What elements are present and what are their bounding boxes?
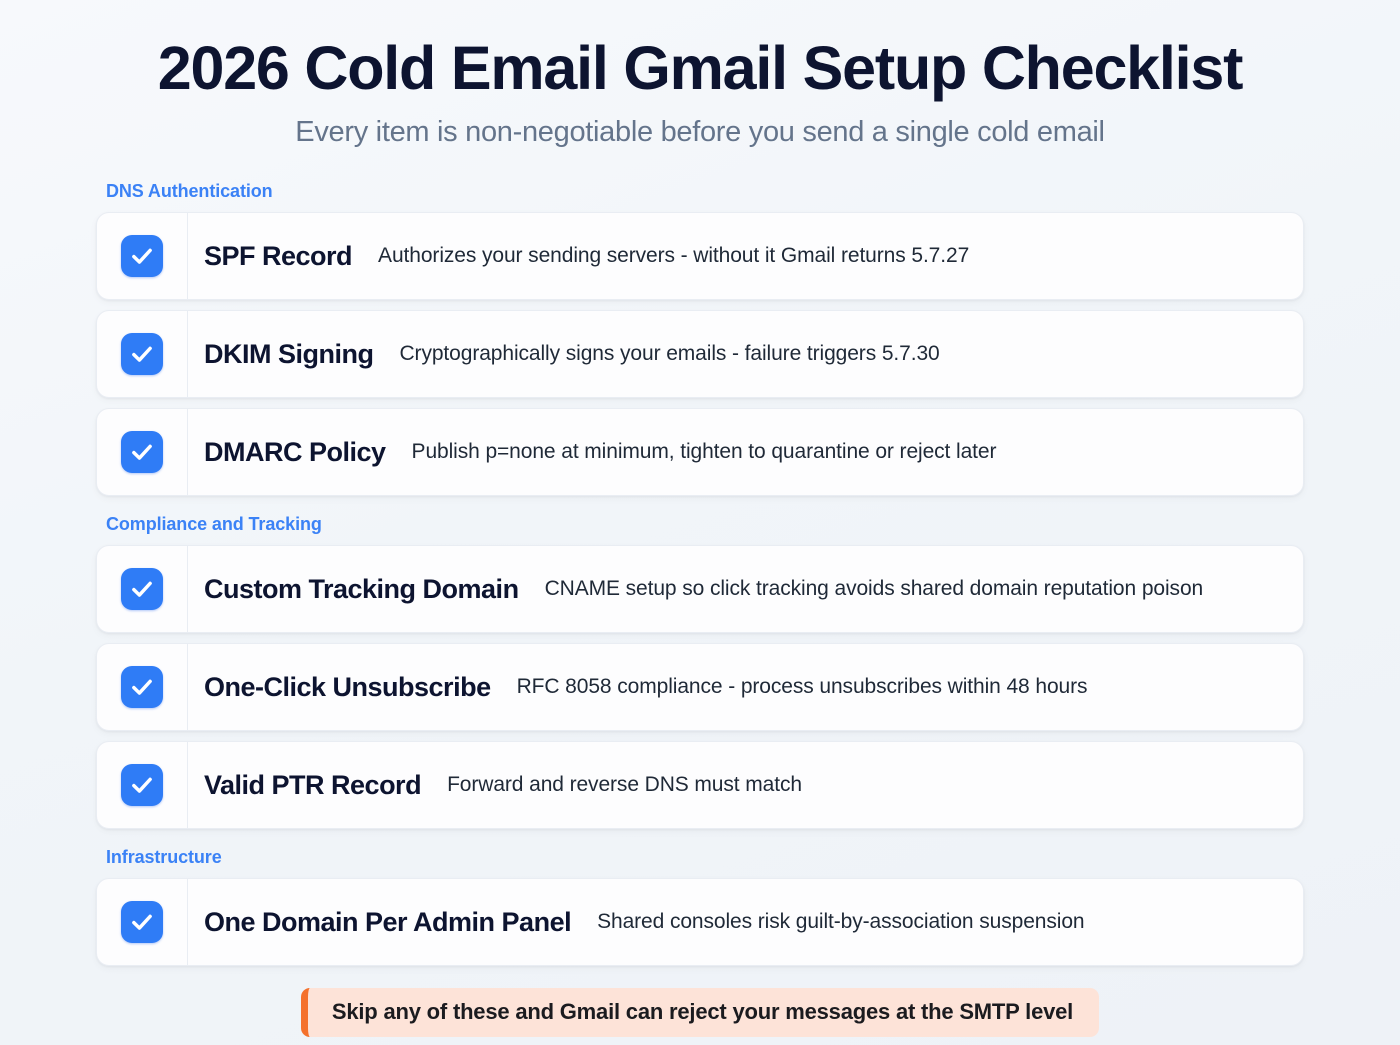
page-subtitle: Every item is non-negotiable before you …: [96, 116, 1304, 149]
checklist-item-body: One-Click UnsubscribeRFC 8058 compliance…: [188, 644, 1303, 730]
checklist-item-title: DMARC Policy: [204, 437, 386, 468]
section-card-list: SPF RecordAuthorizes your sending server…: [96, 212, 1304, 496]
checkbox-cell[interactable]: [97, 546, 188, 632]
checklist-section: DNS AuthenticationSPF RecordAuthorizes y…: [96, 181, 1304, 496]
checklist-item-body: Custom Tracking DomainCNAME setup so cli…: [188, 546, 1303, 632]
section-card-list: One Domain Per Admin PanelShared console…: [96, 878, 1304, 966]
checkmark-icon[interactable]: [121, 901, 163, 943]
checkbox-cell[interactable]: [97, 311, 188, 397]
checklist-item[interactable]: Custom Tracking DomainCNAME setup so cli…: [96, 545, 1304, 633]
checklist-item-title: Valid PTR Record: [204, 770, 421, 801]
checklist-item[interactable]: Valid PTR RecordForward and reverse DNS …: [96, 741, 1304, 829]
section-title: Compliance and Tracking: [106, 514, 1304, 535]
checklist-item-title: One-Click Unsubscribe: [204, 672, 491, 703]
checklist-section: Compliance and TrackingCustom Tracking D…: [96, 514, 1304, 829]
section-title: Infrastructure: [106, 847, 1304, 868]
page-header: 2026 Cold Email Gmail Setup Checklist Ev…: [96, 28, 1304, 149]
checklist-item-description: Forward and reverse DNS must match: [447, 771, 802, 799]
checklist-item-title: SPF Record: [204, 241, 352, 272]
checklist-item-description: Publish p=none at minimum, tighten to qu…: [412, 438, 997, 466]
checklist-item[interactable]: SPF RecordAuthorizes your sending server…: [96, 212, 1304, 300]
checklist-item-body: SPF RecordAuthorizes your sending server…: [188, 213, 1303, 299]
checkbox-cell[interactable]: [97, 644, 188, 730]
checkbox-cell[interactable]: [97, 213, 188, 299]
checkbox-cell[interactable]: [97, 742, 188, 828]
checklist-sections: DNS AuthenticationSPF RecordAuthorizes y…: [96, 181, 1304, 966]
checklist-item-body: Valid PTR RecordForward and reverse DNS …: [188, 742, 1303, 828]
checklist-item-description: CNAME setup so click tracking avoids sha…: [545, 575, 1204, 603]
checkbox-cell[interactable]: [97, 409, 188, 495]
checkmark-icon[interactable]: [121, 764, 163, 806]
checklist-section: InfrastructureOne Domain Per Admin Panel…: [96, 847, 1304, 966]
section-card-list: Custom Tracking DomainCNAME setup so cli…: [96, 545, 1304, 829]
checklist-item-description: Shared consoles risk guilt-by-associatio…: [597, 908, 1084, 936]
checklist-item-body: DKIM SigningCryptographically signs your…: [188, 311, 1303, 397]
page-title: 2026 Cold Email Gmail Setup Checklist: [96, 36, 1304, 100]
checklist-item-title: One Domain Per Admin Panel: [204, 907, 571, 938]
checklist-item-title: DKIM Signing: [204, 339, 373, 370]
checkbox-cell[interactable]: [97, 879, 188, 965]
checklist-item-description: Cryptographically signs your emails - fa…: [399, 340, 939, 368]
checklist-item[interactable]: One Domain Per Admin PanelShared console…: [96, 878, 1304, 966]
checklist-item-title: Custom Tracking Domain: [204, 574, 519, 605]
section-title: DNS Authentication: [106, 181, 1304, 202]
warning-banner: Skip any of these and Gmail can reject y…: [301, 988, 1099, 1037]
checklist-item[interactable]: DKIM SigningCryptographically signs your…: [96, 310, 1304, 398]
checkmark-icon[interactable]: [121, 235, 163, 277]
checkmark-icon[interactable]: [121, 568, 163, 610]
checklist-item[interactable]: One-Click UnsubscribeRFC 8058 compliance…: [96, 643, 1304, 731]
checkmark-icon[interactable]: [121, 666, 163, 708]
checklist-item-body: One Domain Per Admin PanelShared console…: [188, 879, 1303, 965]
footer-area: Skip any of these and Gmail can reject y…: [96, 988, 1304, 1037]
checkmark-icon[interactable]: [121, 333, 163, 375]
checklist-item-body: DMARC PolicyPublish p=none at minimum, t…: [188, 409, 1303, 495]
checkmark-icon[interactable]: [121, 431, 163, 473]
checklist-page: 2026 Cold Email Gmail Setup Checklist Ev…: [0, 0, 1400, 1045]
checklist-item[interactable]: DMARC PolicyPublish p=none at minimum, t…: [96, 408, 1304, 496]
checklist-item-description: RFC 8058 compliance - process unsubscrib…: [517, 673, 1088, 701]
checklist-item-description: Authorizes your sending servers - withou…: [378, 242, 969, 270]
